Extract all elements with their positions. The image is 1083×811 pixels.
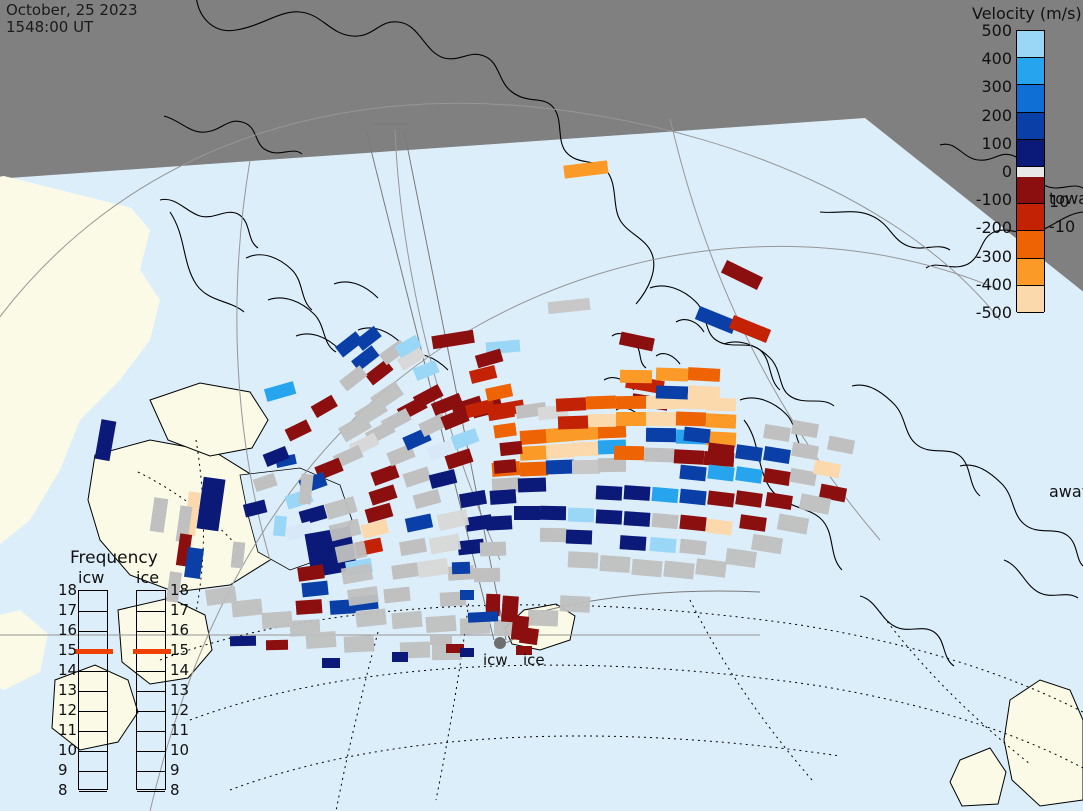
freq-scale-label: 18	[170, 581, 189, 599]
freq-scale-label: 13	[170, 681, 189, 699]
freq-scale-label: 17	[170, 601, 189, 619]
colorbar-tick-label: -200	[966, 218, 1012, 237]
freq-tick	[79, 771, 107, 772]
colorbar-band	[1017, 177, 1044, 204]
freq-tick	[137, 671, 165, 672]
freq-tick	[137, 711, 165, 712]
freq-scale-label: 8	[170, 781, 180, 799]
freq-scale-label: 16	[170, 621, 189, 639]
colorbar-neg-threshold: -10	[1049, 217, 1075, 236]
freq-scale-label: 16	[58, 621, 77, 639]
colorbar-tick-label: 0	[966, 162, 1012, 181]
colorbar-band	[1017, 85, 1044, 112]
colorbar-tick-labels: 5004003002001000-100-200-300-400-500	[964, 30, 1012, 312]
timestamp-label: October, 25 2023 1548:00 UT	[6, 2, 138, 36]
freq-tick	[137, 771, 165, 772]
colorbar-band	[1017, 231, 1044, 258]
colorbar-band	[1017, 140, 1044, 167]
freq-scale-label: 11	[58, 721, 77, 739]
colorbar-tick-label: 100	[966, 134, 1012, 153]
velocity-colorbar: Velocity (m/s) 5004003002001000-100-200-…	[964, 2, 1083, 332]
freq-tick	[137, 751, 165, 752]
colorbar-bands	[1016, 30, 1045, 312]
colorbar-band	[1017, 113, 1044, 140]
freq-scale-label: 13	[58, 681, 77, 699]
freq-tick	[79, 751, 107, 752]
freq-tick	[137, 791, 165, 792]
freq-marker	[133, 649, 171, 654]
freq-scale-label: 9	[170, 761, 180, 779]
colorbar-band	[1017, 204, 1044, 231]
colorbar-tick-label: 500	[966, 21, 1012, 40]
colorbar-tick-label: 200	[966, 106, 1012, 125]
freq-scale-label: 10	[170, 741, 189, 759]
freq-scale-label: 11	[170, 721, 189, 739]
colorbar-tick-label: -100	[966, 190, 1012, 209]
colorbar-tick-label: -300	[966, 247, 1012, 266]
colorbar-tick-label: -500	[966, 303, 1012, 322]
radar-site-marker	[494, 637, 506, 649]
frequency-legend: Frequency icw ice 18171615141312111098 1…	[58, 548, 182, 803]
colorbar-tick-label: 300	[966, 77, 1012, 96]
freq-scale-label: 9	[58, 761, 68, 779]
colorbar-band	[1017, 286, 1044, 313]
colorbar-band	[1017, 58, 1044, 85]
colorbar-band	[1017, 31, 1044, 58]
freq-tick	[79, 711, 107, 712]
colorbar-pos-threshold: 10	[1049, 192, 1069, 211]
freq-scale-label: 10	[58, 741, 77, 759]
frequency-legend-title: Frequency	[70, 548, 158, 568]
radar-label-ice: ice	[523, 651, 545, 669]
freq-scale-label: 12	[58, 701, 77, 719]
freq-col-label-ice: ice	[136, 568, 159, 587]
freq-col-label-icw: icw	[78, 568, 104, 587]
freq-scale-label: 17	[58, 601, 77, 619]
freq-tick	[79, 611, 107, 612]
fan-plot-figure: October, 25 2023 1548:00 UT Velocity (m/…	[0, 0, 1083, 811]
freq-tick	[137, 691, 165, 692]
freq-scale-label: 15	[58, 641, 77, 659]
colorbar-away-label: away	[1049, 482, 1083, 501]
freq-scale-label: 18	[58, 581, 77, 599]
freq-scale-label: 14	[170, 661, 189, 679]
freq-scale-label: 14	[58, 661, 77, 679]
colorbar-tick-label: -400	[966, 275, 1012, 294]
colorbar-tick-label: 400	[966, 49, 1012, 68]
radar-label-icw: icw	[483, 651, 508, 669]
freq-tick	[79, 631, 107, 632]
freq-scale-ice	[136, 590, 166, 790]
freq-scale-icw	[78, 590, 108, 790]
freq-tick	[79, 791, 107, 792]
freq-tick	[137, 631, 165, 632]
freq-tick	[79, 671, 107, 672]
freq-tick	[137, 611, 165, 612]
freq-scale-label: 12	[170, 701, 189, 719]
freq-tick	[137, 731, 165, 732]
freq-tick	[79, 691, 107, 692]
colorbar-band	[1017, 259, 1044, 286]
colorbar-band	[1017, 167, 1044, 177]
freq-tick	[79, 731, 107, 732]
freq-scale-label: 15	[170, 641, 189, 659]
freq-scale-label: 8	[58, 781, 68, 799]
freq-marker	[75, 649, 113, 654]
